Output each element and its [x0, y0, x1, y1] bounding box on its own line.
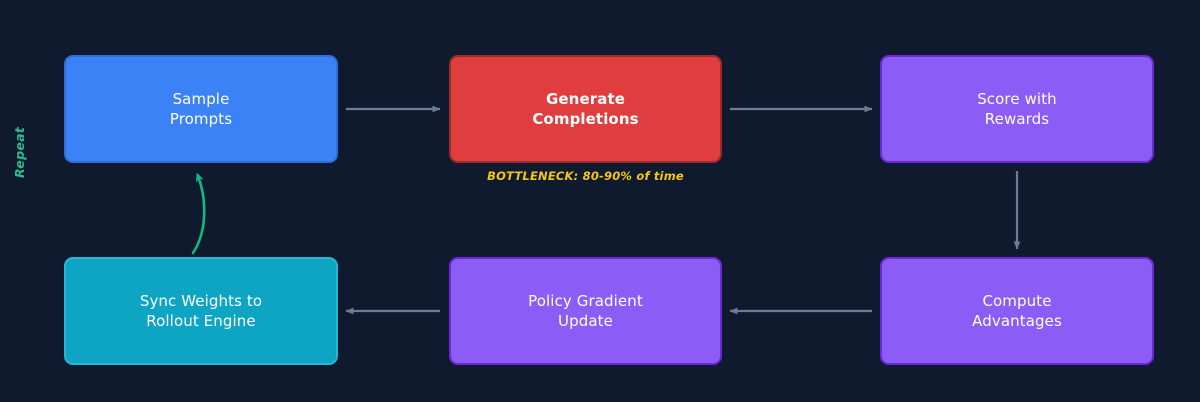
- node-label-sample-prompts: Sample Prompts: [160, 89, 242, 130]
- node-sync-weights[interactable]: Sync Weights to Rollout Engine: [64, 257, 338, 365]
- node-label-policy-gradient-update: Policy Gradient Update: [518, 291, 653, 332]
- node-policy-gradient-update[interactable]: Policy Gradient Update: [449, 257, 722, 365]
- node-score-with-rewards[interactable]: Score with Rewards: [880, 55, 1154, 163]
- repeat-loop-label: Repeat: [12, 127, 27, 178]
- node-label-sync-weights: Sync Weights to Rollout Engine: [130, 291, 272, 332]
- node-label-compute-advantages: Compute Advantages: [962, 291, 1072, 332]
- node-label-generate-completions: Generate Completions: [522, 89, 648, 130]
- node-compute-advantages[interactable]: Compute Advantages: [880, 257, 1154, 365]
- arrow-repeat-loop: [193, 176, 204, 253]
- diagram-canvas: Sample Prompts Generate Completions Scor…: [0, 0, 1200, 402]
- node-sample-prompts[interactable]: Sample Prompts: [64, 55, 338, 163]
- node-label-score-with-rewards: Score with Rewards: [967, 89, 1067, 130]
- bottleneck-annotation: BOTTLENECK: 80-90% of time: [449, 169, 722, 183]
- node-generate-completions[interactable]: Generate Completions: [449, 55, 722, 163]
